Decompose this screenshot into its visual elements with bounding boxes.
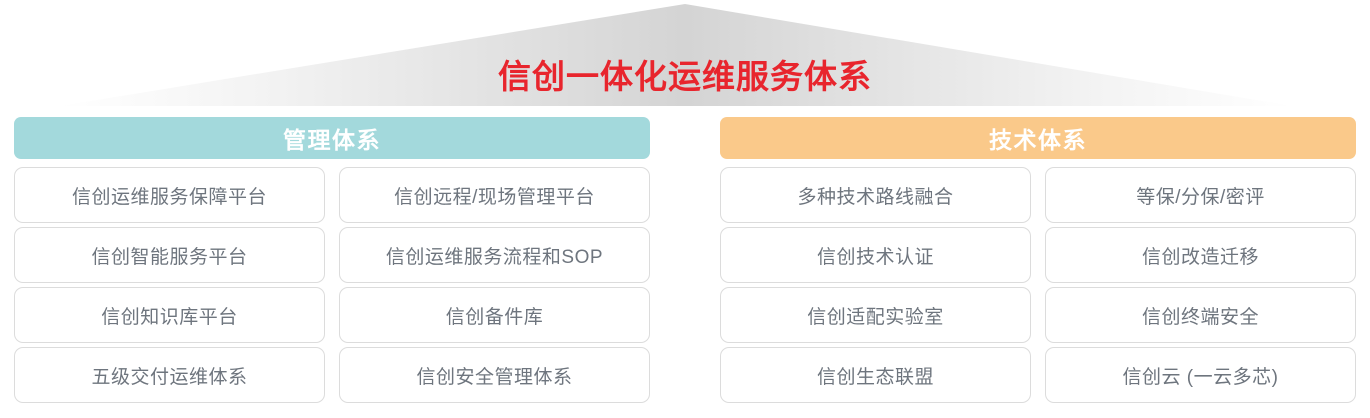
- list-item[interactable]: 信创终端安全: [1045, 287, 1356, 343]
- list-item[interactable]: 信创运维服务流程和SOP: [339, 227, 650, 283]
- list-item[interactable]: 信创改造迁移: [1045, 227, 1356, 283]
- list-item[interactable]: 等保/分保/密评: [1045, 167, 1356, 223]
- list-item[interactable]: 信创备件库: [339, 287, 650, 343]
- list-item[interactable]: 信创适配实验室: [720, 287, 1031, 343]
- systems-container: 管理体系 信创运维服务保障平台 信创远程/现场管理平台 信创智能服务平台 信创运…: [0, 117, 1370, 403]
- group-header-management: 管理体系: [14, 117, 650, 159]
- list-item[interactable]: 多种技术路线融合: [720, 167, 1031, 223]
- list-item[interactable]: 信创安全管理体系: [339, 347, 650, 403]
- group-technology: 技术体系 多种技术路线融合 等保/分保/密评 信创技术认证 信创改造迁移 信创适…: [720, 117, 1356, 403]
- group-grid-management: 信创运维服务保障平台 信创远程/现场管理平台 信创智能服务平台 信创运维服务流程…: [14, 167, 650, 403]
- list-item[interactable]: 信创技术认证: [720, 227, 1031, 283]
- list-item[interactable]: 信创知识库平台: [14, 287, 325, 343]
- list-item[interactable]: 信创云 (一云多芯): [1045, 347, 1356, 403]
- group-header-technology: 技术体系: [720, 117, 1356, 159]
- list-item[interactable]: 信创远程/现场管理平台: [339, 167, 650, 223]
- group-management: 管理体系 信创运维服务保障平台 信创远程/现场管理平台 信创智能服务平台 信创运…: [14, 117, 650, 403]
- page-title: 信创一体化运维服务体系: [0, 57, 1370, 97]
- list-item[interactable]: 信创智能服务平台: [14, 227, 325, 283]
- group-grid-technology: 多种技术路线融合 等保/分保/密评 信创技术认证 信创改造迁移 信创适配实验室 …: [720, 167, 1356, 403]
- list-item[interactable]: 五级交付运维体系: [14, 347, 325, 403]
- list-item[interactable]: 信创生态联盟: [720, 347, 1031, 403]
- infographic-canvas: 信创一体化运维服务体系 管理体系 信创运维服务保障平台 信创远程/现场管理平台 …: [0, 0, 1370, 418]
- list-item[interactable]: 信创运维服务保障平台: [14, 167, 325, 223]
